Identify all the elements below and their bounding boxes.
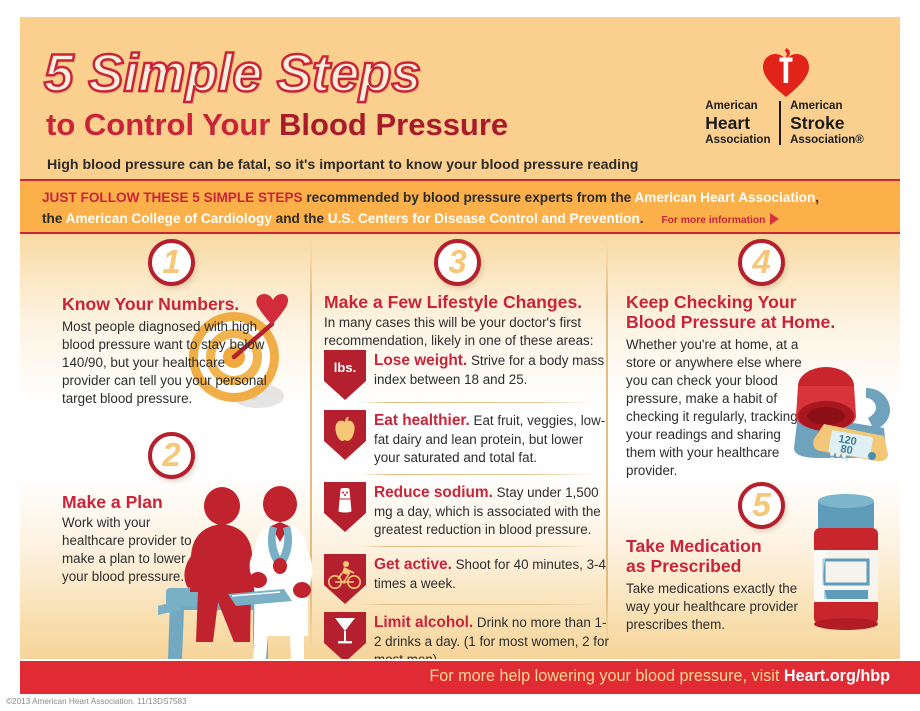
banner-seg4: and the [272, 211, 328, 226]
apple-arrow-icon [324, 410, 366, 460]
banner-org-aha: American Heart Association [634, 190, 815, 205]
step-2-heading: Make a Plan [62, 492, 302, 512]
footer-cta-text: For more help lowering your blood pressu… [429, 667, 783, 685]
lifestyle-text-limit-alcohol: Limit alcohol. Drink no more than 1-2 dr… [374, 613, 612, 659]
lifestyle-rule-3 [360, 546, 596, 547]
lifestyle-title-lose-weight: Lose weight. [374, 352, 467, 369]
poster-footer: For more help lowering your blood pressu… [20, 661, 920, 694]
banner-seg3: the [42, 211, 66, 226]
monitor-diastolic-value: 80 [839, 443, 853, 457]
logo-heart-association: Association [705, 133, 770, 147]
lifestyle-rule-2 [360, 474, 596, 475]
logo-heart-american: American [705, 99, 770, 113]
step-4-number: 4 [752, 245, 770, 278]
logo-stroke-word: Stroke [790, 113, 864, 133]
step-5-number: 5 [752, 488, 770, 521]
copyright-line: ©2013 American Heart Association. 11/13D… [6, 697, 187, 706]
arrow-down-shape [324, 350, 366, 400]
step-3-heading: Make a Few Lifestyle Changes. [324, 292, 609, 312]
step-4-body: Whether you're at home, at a store or an… [626, 336, 806, 480]
martini-glass-arrow-icon [324, 612, 366, 659]
lifestyle-text-lose-weight: Lose weight. Strive for a body mass inde… [374, 351, 612, 389]
lifestyle-text-get-active: Get active. Shoot for 40 minutes, 3-4 ti… [374, 555, 612, 593]
lifestyle-text-reduce-sodium: Reduce sodium. Stay under 1,500 mg a day… [374, 483, 612, 539]
banner-org-cdc: U.S. Centers for Disease Control and Pre… [328, 211, 640, 226]
pill-bottle-icon [804, 494, 888, 634]
lifestyle-rule-1 [360, 402, 596, 403]
lifestyle-title-limit-alcohol: Limit alcohol. [374, 614, 473, 631]
column-three: 4 Keep Checking Your Blood Pressure at H… [608, 234, 900, 659]
step-4-badge: 4 [738, 239, 785, 286]
step-2-body: Work with your healthcare provider to ma… [62, 514, 202, 586]
lifestyle-text-eat-healthier: Eat healthier. Eat fruit, veggies, low-f… [374, 411, 612, 467]
step-5-heading-line2: as Prescribed [626, 556, 806, 576]
subtitle-emphasis: Blood Pressure [279, 107, 508, 142]
martini-glass-glyph [334, 616, 356, 646]
logo-wordmark: American Heart Association American Stro… [687, 99, 882, 147]
lifestyle-title-reduce-sodium: Reduce sodium. [374, 484, 493, 501]
step-4-heading-line1: Keep Checking Your [626, 292, 876, 312]
aha-asa-logo: American Heart Association American Stro… [687, 47, 882, 152]
play-triangle-icon [770, 213, 779, 225]
logo-divider [779, 101, 781, 145]
banner-text: JUST FOLLOW THESE 5 SIMPLE STEPS recomme… [42, 188, 882, 230]
bicycle-arrow-icon [324, 554, 366, 604]
step-3-body: In many cases this will be your doctor's… [324, 314, 604, 350]
step-4-heading-line2: Blood Pressure at Home. [626, 312, 896, 332]
step-1-heading: Know Your Numbers. [62, 294, 302, 314]
bicycle-glyph [328, 559, 362, 591]
step-2-number: 2 [162, 438, 180, 471]
step-5-heading-line1: Take Medication [626, 536, 806, 556]
lifestyle-title-eat-healthier: Eat healthier. [374, 412, 470, 429]
step-5-body: Take medications exactly the way your he… [626, 580, 801, 634]
header-description: High blood pressure can be fatal, so it'… [47, 155, 807, 179]
footer-cta: For more help lowering your blood pressu… [429, 667, 890, 686]
poster-header: 5 Simple Steps to Control Your Blood Pre… [20, 17, 900, 179]
logo-heart-column: American Heart Association [705, 99, 770, 147]
logo-heart-word: Heart [705, 113, 770, 133]
step-3-number: 3 [448, 245, 466, 278]
banner-seg1: recommended by blood pressure experts fr… [303, 190, 635, 205]
header-desc-line1: High blood pressure can be fatal, so it'… [47, 157, 638, 173]
page-subtitle: to Control Your Blood Pressure [46, 109, 508, 140]
more-information-label: For more information [661, 215, 765, 226]
more-information-link[interactable]: For more information [661, 215, 779, 226]
logo-stroke-association: Association® [790, 133, 864, 147]
lifestyle-rule-4 [360, 604, 596, 605]
step-1-number: 1 [162, 245, 180, 278]
step-1-badge: 1 [148, 239, 195, 286]
page-title: 5 Simple Steps [44, 47, 421, 100]
banner-lead: JUST FOLLOW THESE 5 SIMPLE STEPS [42, 190, 303, 205]
salt-shaker-arrow-icon [324, 482, 366, 532]
lifestyle-title-get-active: Get active. [374, 556, 452, 573]
step-3-badge: 3 [434, 239, 481, 286]
follow-steps-banner: JUST FOLLOW THESE 5 SIMPLE STEPS recomme… [20, 179, 900, 234]
logo-stroke-column: American Stroke Association® [790, 99, 864, 147]
apple-glyph [333, 416, 357, 443]
column-one: 1 Know Your Numbers. Most people diagnos… [20, 234, 310, 659]
heart-with-torch-icon [763, 47, 809, 97]
weight-lbs-arrow-icon: lbs. [324, 350, 366, 400]
banner-org-acc: American College of Cardiology [66, 211, 272, 226]
salt-shaker-glyph [336, 487, 354, 515]
blood-pressure-monitor-icon: 120 80 67 [780, 350, 900, 468]
step-1-body: Most people diagnosed with high blood pr… [62, 318, 267, 408]
logo-stroke-american: American [790, 99, 864, 113]
banner-seg5: . [640, 211, 644, 226]
column-two: 3 Make a Few Lifestyle Changes. In many … [312, 234, 606, 659]
steps-body: 1 Know Your Numbers. Most people diagnos… [20, 234, 900, 659]
footer-url[interactable]: Heart.org/hbp [784, 667, 890, 685]
subtitle-prefix: to Control Your [46, 107, 279, 142]
step-2-badge: 2 [148, 432, 195, 479]
lbs-label: lbs. [324, 360, 366, 375]
infographic-poster: 5 Simple Steps to Control Your Blood Pre… [0, 0, 920, 711]
step-5-badge: 5 [738, 482, 785, 529]
banner-seg2: , [815, 190, 819, 205]
